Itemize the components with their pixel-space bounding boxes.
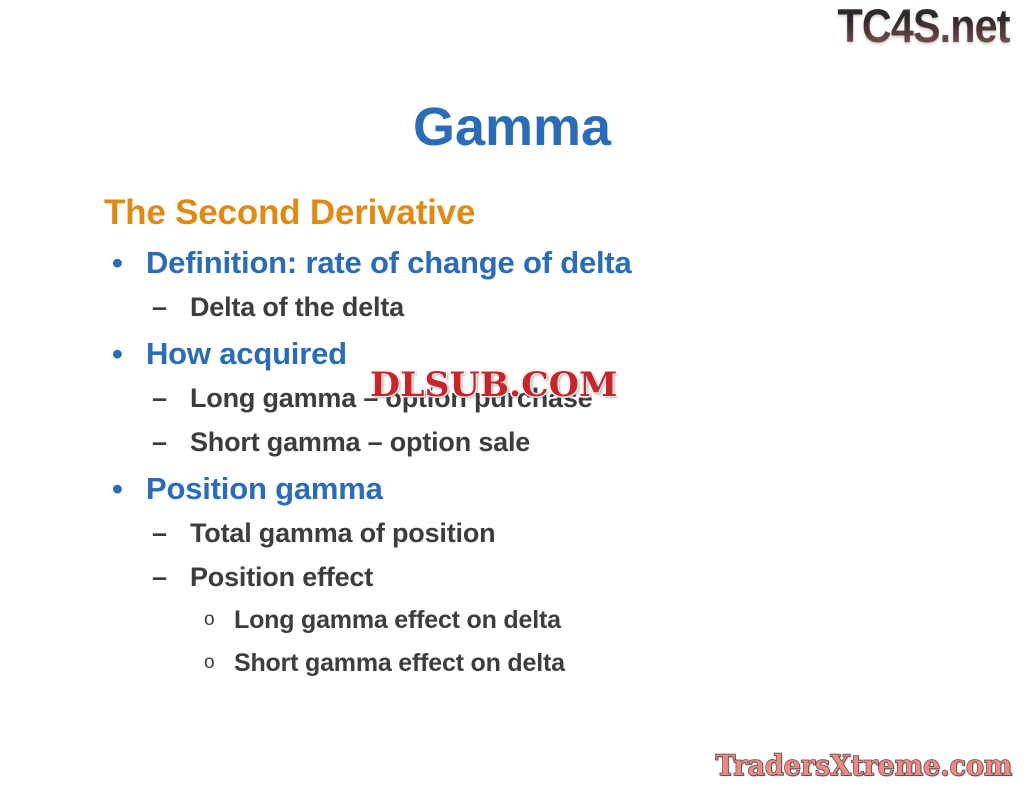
bullet-text: Delta of the delta [190, 292, 404, 322]
bullet-marker-circle-icon: o [204, 599, 214, 642]
bullet-item-level2: – Short gamma – option sale [104, 421, 944, 465]
bullet-marker-circle-icon: o [204, 642, 214, 685]
bullet-marker-dot-icon: • [112, 465, 123, 512]
bullet-marker-dash-icon: – [152, 556, 167, 600]
tc4s-logo: TC4S.net [838, 2, 1010, 49]
bullet-text: Total gamma of position [190, 518, 495, 548]
bullet-text: Position effect [190, 562, 373, 592]
bullet-item-level2: – Position effect [104, 556, 944, 600]
bullet-marker-dash-icon: – [152, 421, 167, 465]
presentation-slide: TC4S.net Gamma The Second Derivative • D… [0, 0, 1024, 791]
bullet-text: Short gamma – option sale [190, 427, 530, 457]
slide-subtitle: The Second Derivative [104, 192, 944, 233]
bullet-text: Position gamma [146, 471, 383, 506]
slide-body: The Second Derivative • Definition: rate… [104, 192, 944, 684]
bullet-item-level2: – Delta of the delta [104, 286, 944, 330]
bullet-item-level3: o Short gamma effect on delta [104, 642, 944, 685]
bullet-item-level1: • Definition: rate of change of delta [104, 239, 944, 286]
bullet-text: Long gamma effect on delta [234, 606, 561, 634]
dlsub-watermark: DLSUB.COM [370, 366, 617, 405]
bullet-item-level1: • Position gamma [104, 465, 944, 512]
bullet-text: How acquired [146, 336, 347, 371]
bullet-item-level3: o Long gamma effect on delta [104, 599, 944, 642]
dlsub-watermark-text: DLSUB.COM [370, 365, 617, 405]
bullet-marker-dot-icon: • [112, 239, 123, 286]
bullet-text: Definition: rate of change of delta [146, 245, 632, 280]
bullet-list: • Definition: rate of change of delta – … [104, 239, 944, 684]
bullet-marker-dash-icon: – [152, 512, 167, 556]
bullet-marker-dash-icon: – [152, 377, 167, 421]
bullet-text: Short gamma effect on delta [234, 649, 565, 677]
tradersxtreme-logo: TradersXtreme.com [715, 752, 1012, 780]
bullet-marker-dash-icon: – [152, 286, 167, 330]
bullet-item-level2: – Total gamma of position [104, 512, 944, 556]
page-title: Gamma [0, 100, 1024, 154]
bullet-marker-dot-icon: • [112, 330, 123, 377]
